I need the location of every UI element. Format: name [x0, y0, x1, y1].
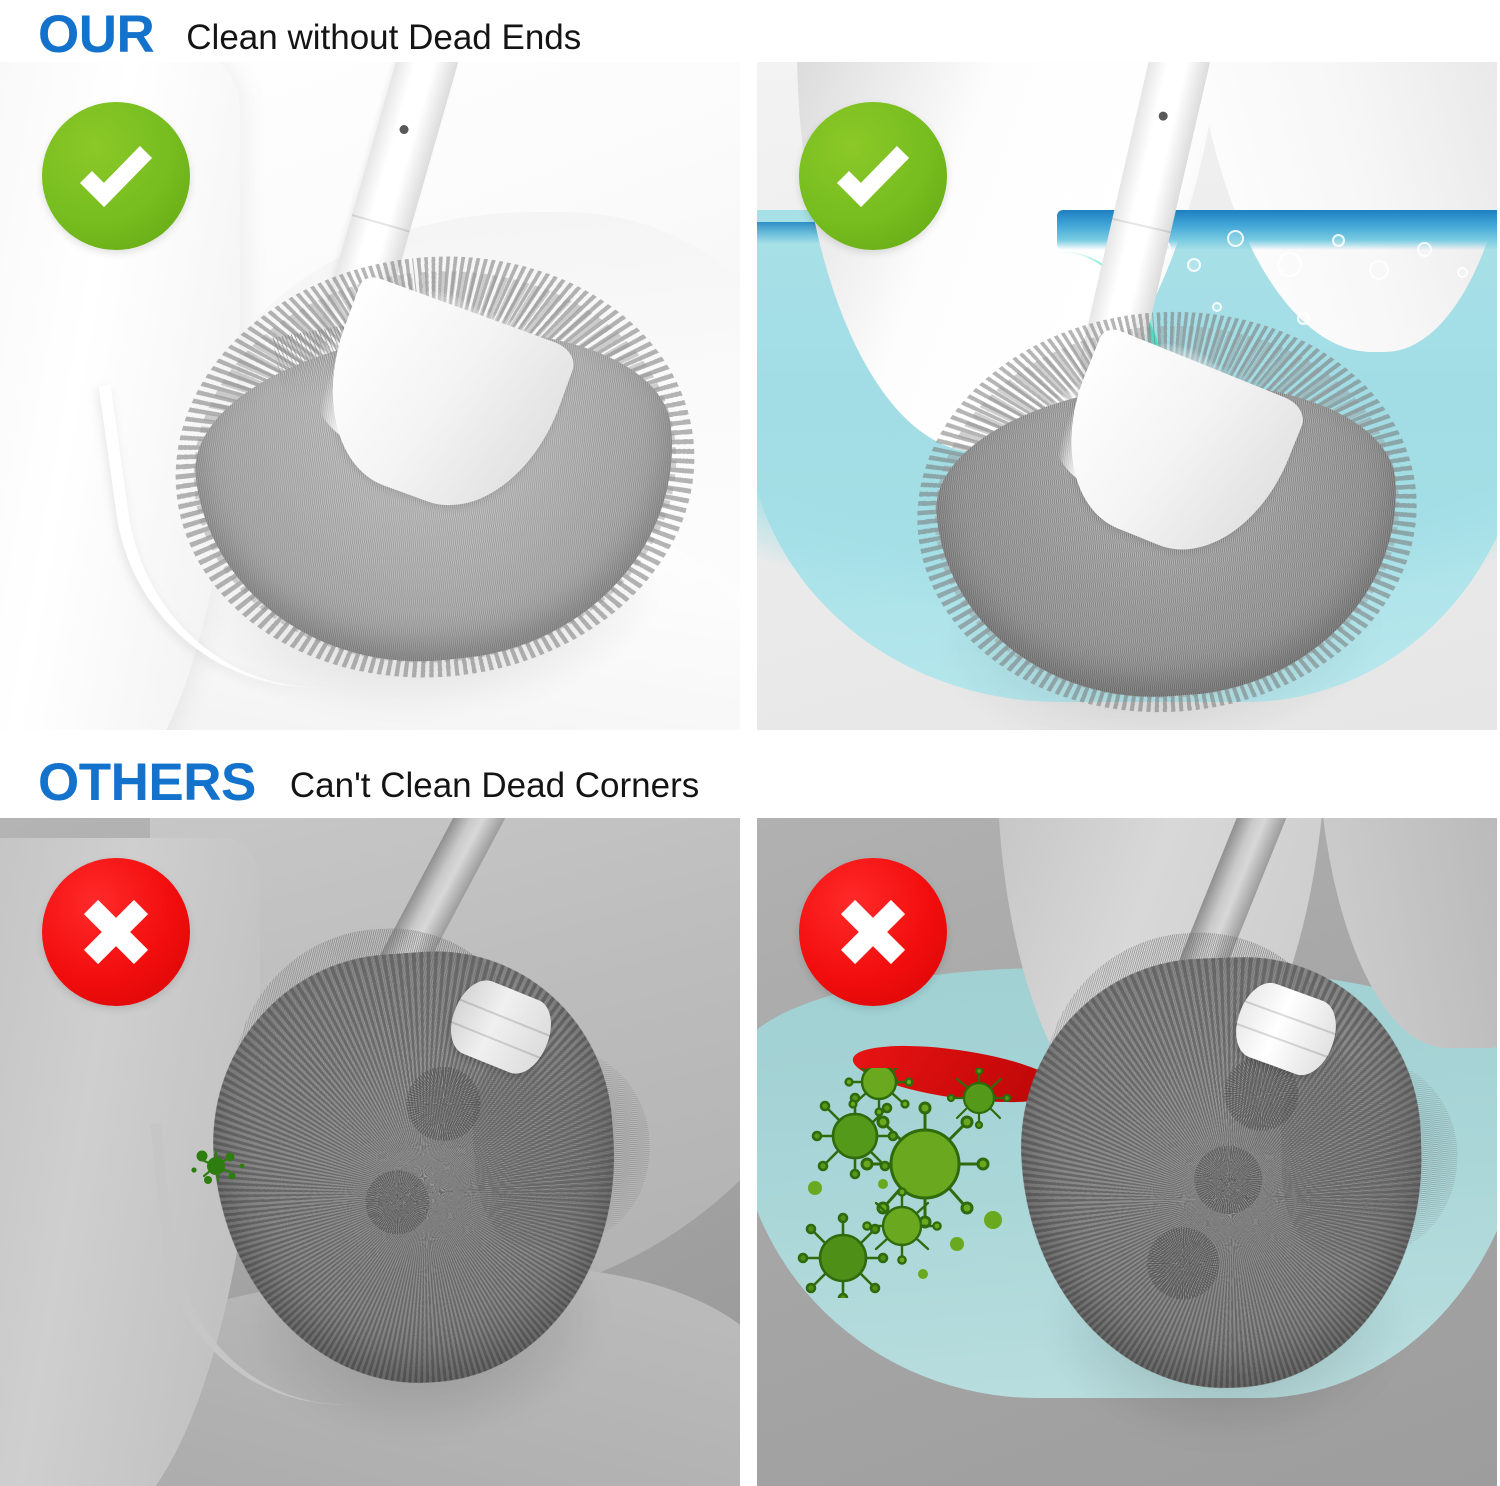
panel-our-dry: [0, 62, 740, 730]
check-icon: [827, 130, 919, 222]
round-brush-head: [200, 940, 629, 1397]
handle-hole-dot: [398, 124, 409, 135]
water-bubble: [1332, 234, 1345, 247]
section-header-others: OTHERS Can't Clean Dead Corners: [0, 748, 1500, 810]
germ-icon: [797, 1068, 1057, 1298]
water-bubble: [1187, 258, 1201, 272]
water-bubble: [1227, 230, 1244, 247]
water-bubble: [1369, 260, 1389, 280]
section-subtitle-others: Can't Clean Dead Corners: [256, 766, 699, 810]
flat-brush-head: [904, 295, 1431, 729]
infographic-sheet: OUR Clean without Dead Ends: [0, 0, 1500, 1486]
handle-hole-dot: [1158, 111, 1169, 122]
water-bubble: [1057, 192, 1073, 208]
panel-others-water: [757, 818, 1497, 1486]
round-brush-head: [1015, 951, 1430, 1395]
water-bubble: [1277, 252, 1302, 277]
cross-icon: [70, 886, 162, 978]
status-badge-cross: [799, 858, 947, 1006]
water-bubble: [1457, 267, 1468, 278]
section-tag-our: OUR: [0, 8, 154, 62]
germ-icon: [186, 1138, 256, 1194]
status-badge-check: [799, 102, 947, 250]
flat-brush-head: [154, 231, 715, 703]
panel-others-dry: [0, 818, 740, 1486]
status-badge-cross: [42, 858, 190, 1006]
water-bubble: [1417, 242, 1432, 257]
check-icon: [70, 130, 162, 222]
panel-our-water: [757, 62, 1497, 730]
section-header-our: OUR Clean without Dead Ends: [0, 0, 1500, 62]
germ-cluster: [186, 1138, 256, 1194]
section-tag-others: OTHERS: [0, 756, 256, 810]
section-subtitle-our: Clean without Dead Ends: [154, 18, 581, 62]
status-badge-check: [42, 102, 190, 250]
cross-icon: [827, 886, 919, 978]
germ-cluster: [797, 1068, 1057, 1298]
